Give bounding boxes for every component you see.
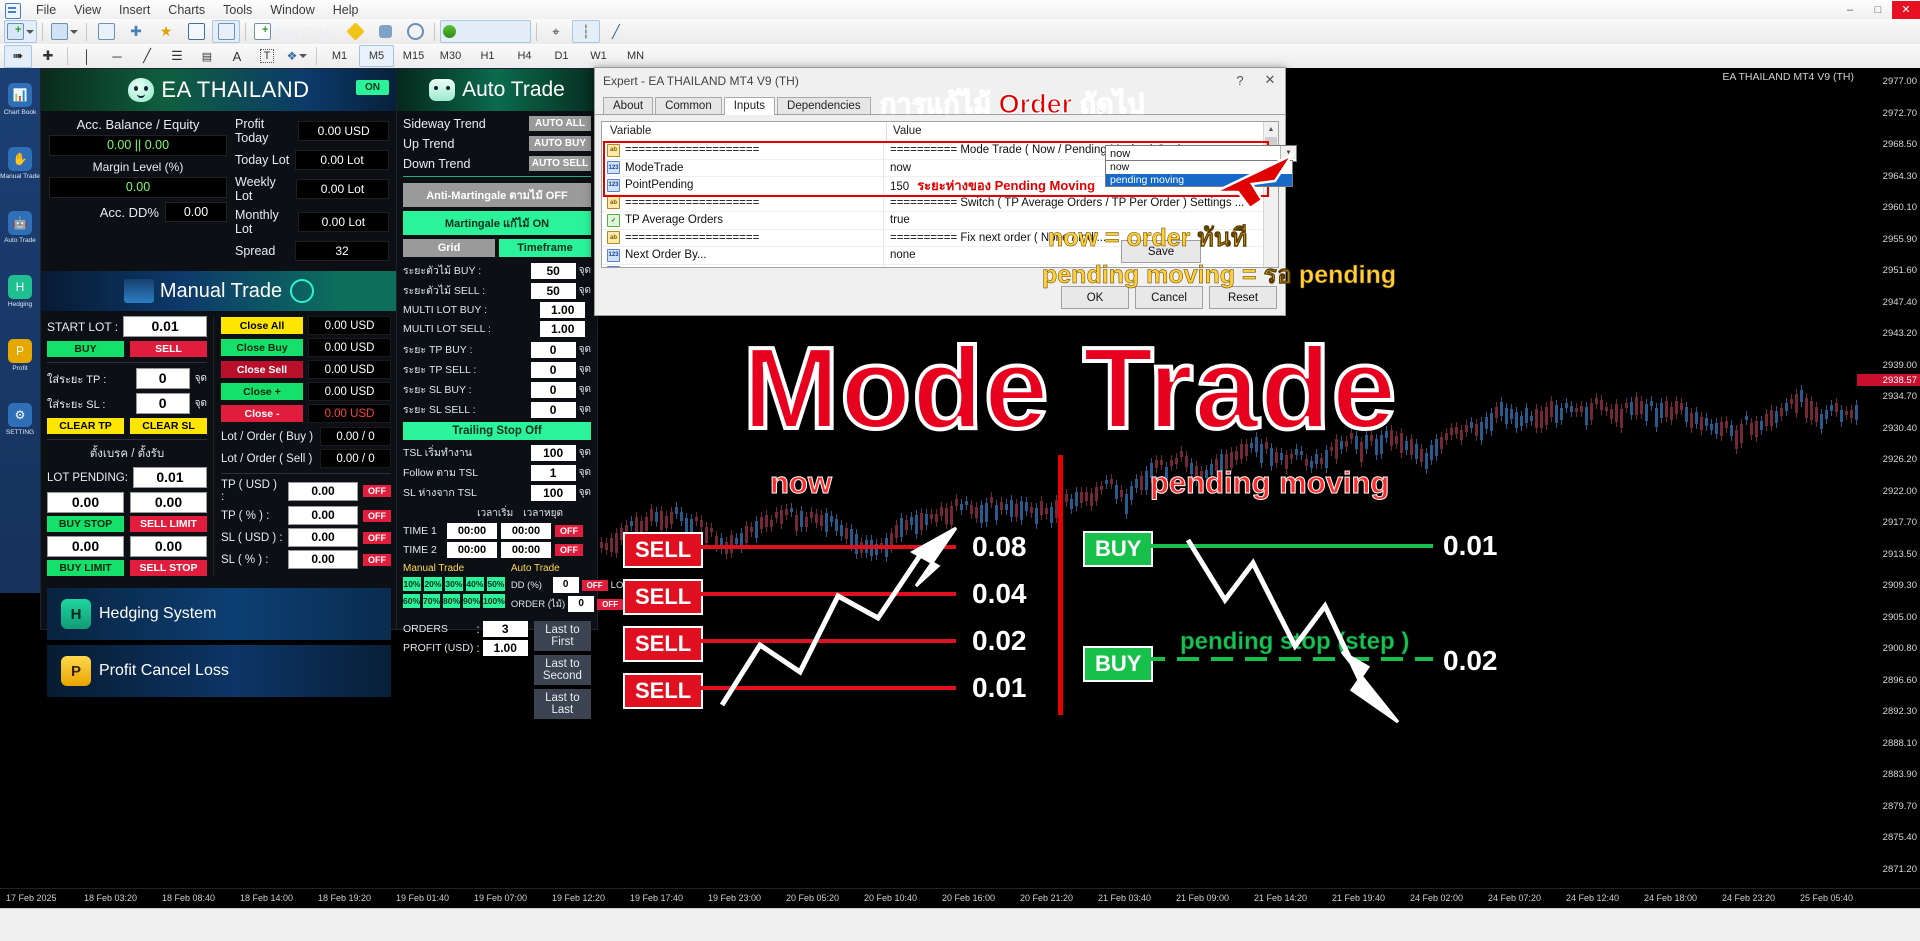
grid-header: Variable Value xyxy=(602,122,1278,142)
number-icon: 123 xyxy=(607,249,620,262)
boolean-icon: ✓ xyxy=(607,214,620,227)
number-icon: 123 xyxy=(607,266,620,268)
grid-scrollbar[interactable]: ▲ xyxy=(1263,122,1278,267)
annotation-note: ระยะห่างของ Pending Moving xyxy=(917,178,1095,193)
text-icon: ab xyxy=(607,144,620,157)
variable-name: ==================== xyxy=(625,144,759,156)
inputs-row[interactable]: ab============================== Switch … xyxy=(602,195,1278,213)
dialog-close-button[interactable]: ✕ xyxy=(1255,68,1285,92)
text-icon: ab xyxy=(607,196,620,209)
variable-name: TP Average Orders xyxy=(625,214,723,226)
variable-name: PointPending xyxy=(625,179,693,191)
dialog-window-controls: ? ✕ xyxy=(1225,68,1285,92)
dropdown-option-pending-moving[interactable]: pending moving xyxy=(1106,174,1292,187)
chevron-down-icon[interactable]: ▼ xyxy=(1280,146,1296,159)
modetrade-combobox-value: now xyxy=(1110,148,1130,160)
column-header-variable: Variable xyxy=(602,122,887,141)
scroll-up-icon[interactable]: ▲ xyxy=(1264,122,1278,136)
variable-name: ==================== xyxy=(625,197,759,209)
variable-name: Next Order By... xyxy=(625,249,707,261)
tab-common[interactable]: Common xyxy=(655,97,722,114)
modetrade-dropdown-list[interactable]: now pending moving xyxy=(1105,160,1293,187)
tab-about[interactable]: About xyxy=(603,97,653,114)
variable-name: Amount Candle xyxy=(625,267,704,268)
tab-inputs[interactable]: Inputs xyxy=(724,97,775,115)
mt4-window: File View Insert Charts Tools Window Hel… xyxy=(0,0,1920,940)
variable-name: ModeTrade xyxy=(625,162,683,174)
tab-dependencies[interactable]: Dependencies xyxy=(777,97,871,114)
annotation-thai-title: การแก้ไม้ Order ถัดไป xyxy=(880,82,1144,125)
number-icon: 123 xyxy=(607,179,620,192)
annotation-now-note: now = order ทันที xyxy=(1048,218,1247,258)
dropdown-option-now[interactable]: now xyxy=(1106,161,1292,174)
annotation-pending-note: pending moving = รอ pending xyxy=(1042,255,1396,295)
number-icon: 123 xyxy=(607,161,620,174)
variable-name: ==================== xyxy=(625,232,759,244)
dialog-help-button[interactable]: ? xyxy=(1225,68,1255,92)
variable-value[interactable]: ========== Switch ( TP Average Orders / … xyxy=(884,197,1278,209)
text-icon: ab xyxy=(607,231,620,244)
